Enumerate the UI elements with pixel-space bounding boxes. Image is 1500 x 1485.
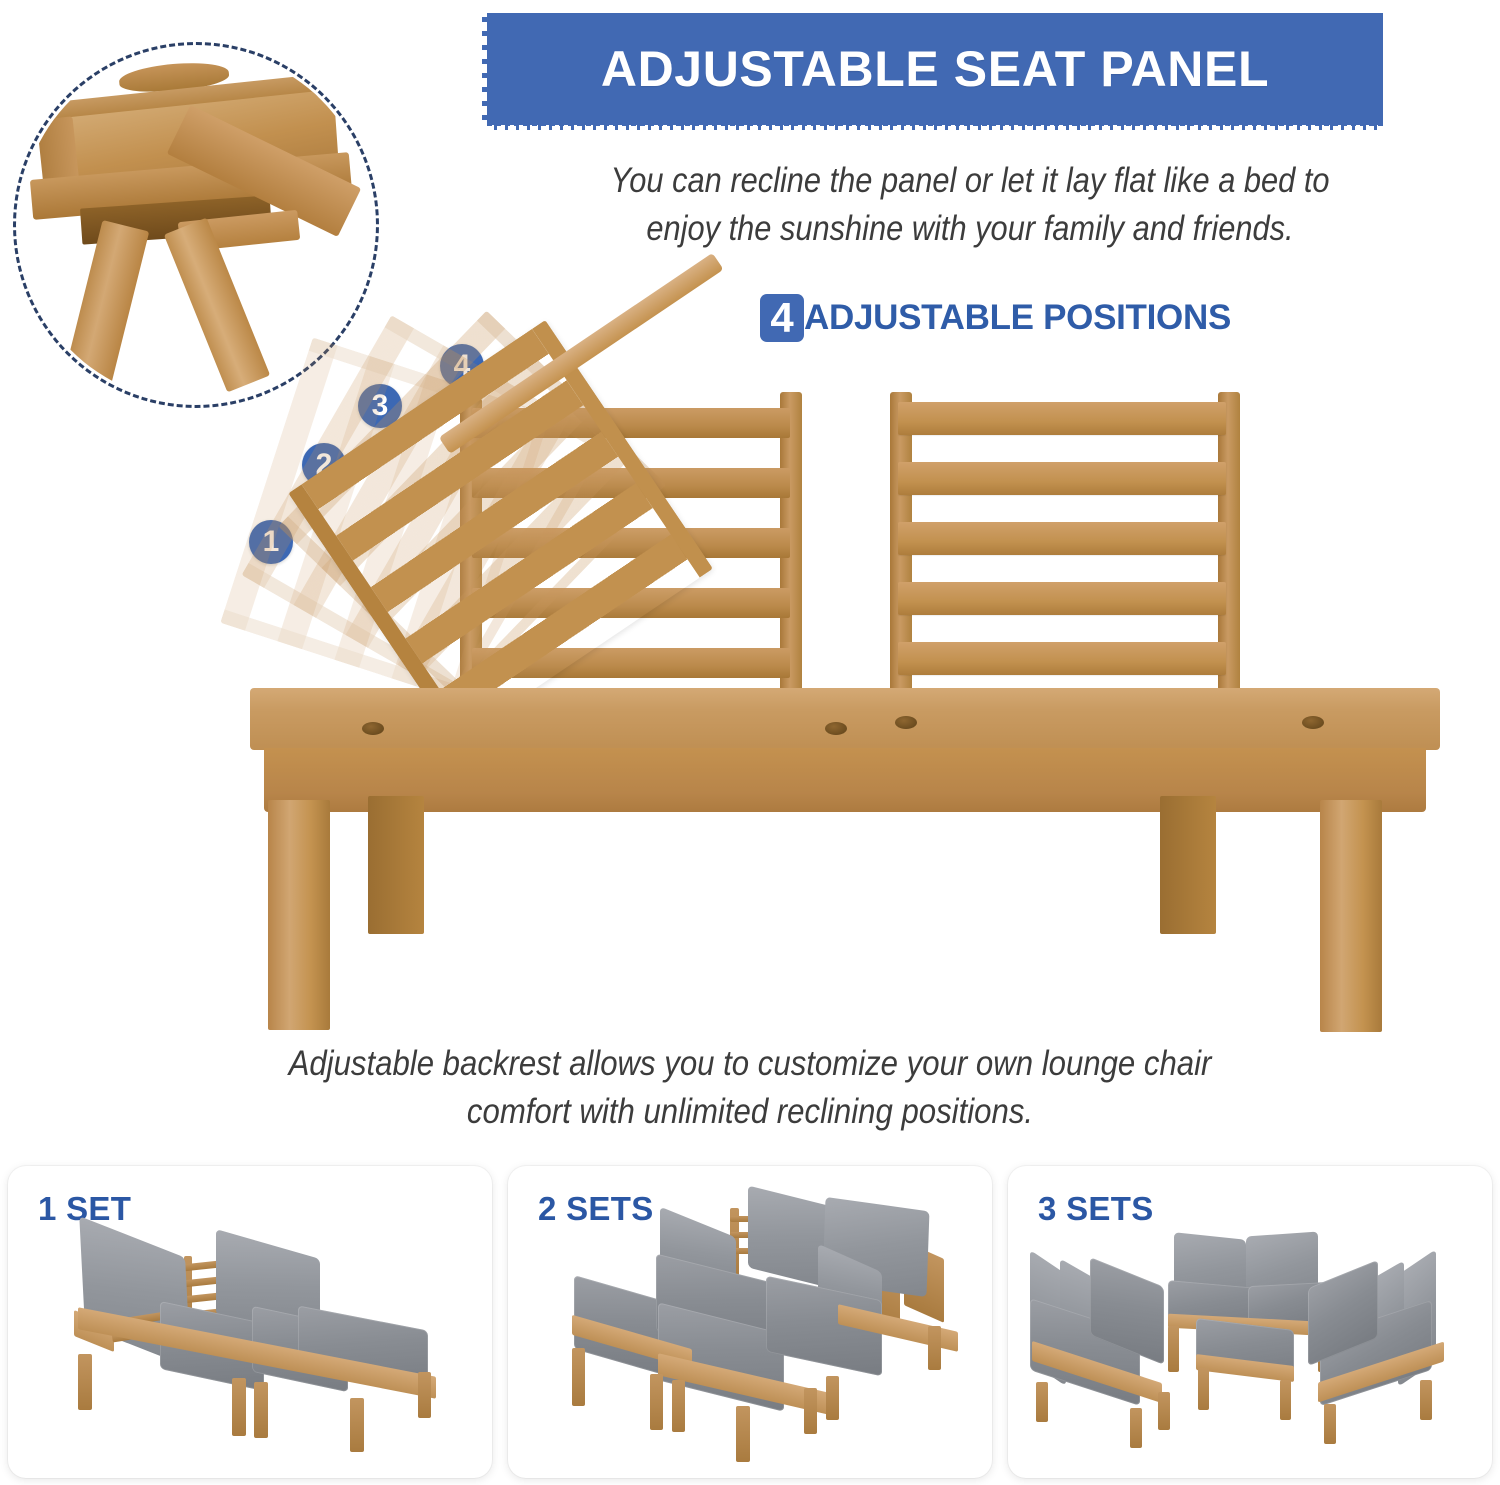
double-daybed-configuration xyxy=(508,1166,992,1478)
leg-front-right xyxy=(1320,800,1382,1032)
bottom-caption: Adjustable backrest allows you to custom… xyxy=(243,1040,1258,1135)
bolt-hole xyxy=(825,722,847,735)
right-backrest-slat xyxy=(898,402,1226,435)
bolt-hole xyxy=(362,722,384,735)
bolt-hole xyxy=(1302,716,1324,729)
subtitle-line-1: You can recline the panel or let it lay … xyxy=(574,157,1366,205)
product-photo-main xyxy=(250,330,1440,1040)
leg-rear-right xyxy=(1160,796,1216,934)
leg-rear-left xyxy=(368,796,424,934)
config-card-3-sets[interactable]: 3 SETS xyxy=(1008,1166,1492,1478)
sectional-sofa-with-ottoman-configuration xyxy=(1008,1166,1492,1478)
subtitle-text: You can recline the panel or let it lay … xyxy=(574,157,1366,252)
seat-deck-front-apron xyxy=(264,748,1426,812)
bolt-hole xyxy=(895,716,917,729)
configuration-cards: 1 SET xyxy=(8,1166,1492,1478)
right-backrest-slat xyxy=(898,522,1226,555)
title-banner: ADJUSTABLE SEAT PANEL xyxy=(487,13,1383,125)
leg-front-left xyxy=(268,800,330,1030)
page-title: ADJUSTABLE SEAT PANEL xyxy=(601,40,1269,98)
config-card-2-sets[interactable]: 2 SETS xyxy=(508,1166,992,1478)
right-backrest-slat xyxy=(898,642,1226,675)
seat-deck-top-surface xyxy=(250,688,1440,750)
caption-line-2: comfort with unlimited reclining positio… xyxy=(243,1088,1258,1136)
right-backrest-slat xyxy=(898,462,1226,495)
caption-line-1: Adjustable backrest allows you to custom… xyxy=(243,1040,1258,1088)
right-backrest-slat xyxy=(898,582,1226,615)
config-card-1-set[interactable]: 1 SET xyxy=(8,1166,492,1478)
infographic-page: ADJUSTABLE SEAT PANEL You can recline th… xyxy=(0,0,1500,1485)
subtitle-line-2: enjoy the sunshine with your family and … xyxy=(574,205,1366,253)
single-chaise-lounge-configuration xyxy=(8,1166,492,1478)
